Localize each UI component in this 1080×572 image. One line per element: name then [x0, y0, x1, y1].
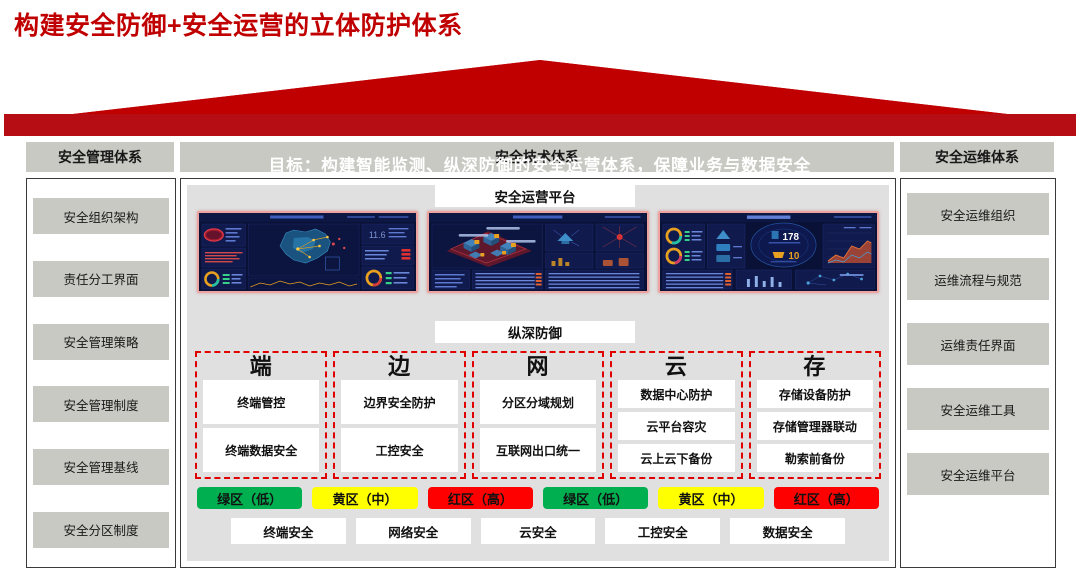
svg-text:178: 178 — [782, 232, 799, 243]
defense-column-title: 存 — [757, 355, 873, 378]
management-item[interactable]: 安全管理制度 — [33, 386, 169, 422]
status-badge[interactable]: 绿区（低） — [197, 487, 302, 509]
operations-item[interactable]: 运维流程与规范 — [907, 258, 1049, 300]
defense-column-title: 云 — [618, 355, 734, 378]
operations-system-panel: 安全运维组织 运维流程与规范 运维责任界面 安全运维工具 安全运维平台 — [900, 178, 1056, 568]
defense-item[interactable]: 工控安全 — [341, 428, 457, 472]
management-system-panel: 安全组织架构 责任分工界面 安全管理策略 安全管理制度 安全管理基线 安全分区制… — [26, 178, 176, 568]
management-item-list: 安全组织架构 责任分工界面 安全管理策略 安全管理制度 安全管理基线 安全分区制… — [33, 185, 169, 561]
defense-item-list: 数据中心防护 云平台容灾 云上云下备份 — [618, 380, 734, 472]
dashboard-metrics-graphic: 178 10 — [660, 213, 877, 291]
defense-item[interactable]: 勒索前备份 — [757, 444, 873, 472]
defense-item-list: 存储设备防护 存储管理器联动 勒索前备份 — [757, 380, 873, 472]
defense-item[interactable]: 存储管理器联动 — [757, 412, 873, 440]
management-item[interactable]: 安全分区制度 — [33, 512, 169, 548]
svg-text:10: 10 — [788, 251, 799, 262]
defense-item-list: 边界安全防护 工控安全 — [341, 380, 457, 472]
defense-item[interactable]: 云平台容灾 — [618, 412, 734, 440]
dashboard-map-graphic: 11.6 — [199, 213, 416, 291]
defense-item[interactable]: 终端数据安全 — [203, 428, 319, 472]
status-badge[interactable]: 黄区（中） — [312, 487, 417, 509]
operations-item-list: 安全运维组织 运维流程与规范 运维责任界面 安全运维工具 安全运维平台 — [907, 185, 1049, 561]
status-badge[interactable]: 红区（高） — [428, 487, 533, 509]
status-badge[interactable]: 绿区（低） — [543, 487, 648, 509]
status-badge[interactable]: 黄区（中） — [658, 487, 763, 509]
dashboard-topology-graphic — [429, 213, 646, 291]
defense-item[interactable]: 终端管控 — [203, 380, 319, 424]
dashboard-asset-metrics[interactable]: 178 10 — [658, 211, 879, 293]
svg-text:11.6: 11.6 — [369, 230, 386, 240]
status-badge[interactable]: 红区（高） — [774, 487, 879, 509]
management-item[interactable]: 安全管理基线 — [33, 449, 169, 485]
defense-item-list: 终端管控 终端数据安全 — [203, 380, 319, 472]
dashboard-network-topology[interactable] — [427, 211, 648, 293]
operations-item[interactable]: 安全运维组织 — [907, 193, 1049, 235]
section-label-platform: 安全运营平台 — [435, 185, 635, 207]
security-domain-item[interactable]: 云安全 — [481, 518, 596, 544]
technical-system-inner: 安全运营平台 — [187, 185, 889, 561]
defense-item[interactable]: 边界安全防护 — [341, 380, 457, 424]
defense-column-cloud[interactable]: 云 数据中心防护 云平台容灾 云上云下备份 — [610, 351, 742, 479]
dashboard-situational-map[interactable]: 11.6 — [197, 211, 418, 293]
management-item[interactable]: 安全组织架构 — [33, 198, 169, 234]
defense-item[interactable]: 分区分域规划 — [480, 380, 596, 424]
defense-column-title: 端 — [203, 355, 319, 378]
management-item[interactable]: 安全管理策略 — [33, 324, 169, 360]
defense-column-title: 边 — [341, 355, 457, 378]
defense-item[interactable]: 云上云下备份 — [618, 444, 734, 472]
dashboard-row: 11.6 — [197, 211, 879, 293]
operations-item[interactable]: 安全运维工具 — [907, 388, 1049, 430]
defense-column-border[interactable]: 边 边界安全防护 工控安全 — [333, 351, 465, 479]
management-item[interactable]: 责任分工界面 — [33, 261, 169, 297]
defense-item[interactable]: 互联网出口统一 — [480, 428, 596, 472]
goal-banner: 目标：构建智能监测、纵深防御的安全运营体系，保障业务与数据安全 — [0, 58, 1080, 136]
page-title: 构建安全防御+安全运营的立体防护体系 — [14, 6, 463, 42]
security-domain-item[interactable]: 网络安全 — [356, 518, 471, 544]
security-domain-item[interactable]: 工控安全 — [605, 518, 720, 544]
security-domain-item[interactable]: 终端安全 — [231, 518, 346, 544]
defense-item[interactable]: 数据中心防护 — [618, 380, 734, 408]
goal-banner-text: 目标：构建智能监测、纵深防御的安全运营体系，保障业务与数据安全 — [0, 158, 1080, 175]
defense-column-title: 网 — [480, 355, 596, 378]
security-domain-row: 终端安全 网络安全 云安全 工控安全 数据安全 — [197, 515, 879, 547]
defense-column-endpoint[interactable]: 端 终端管控 终端数据安全 — [195, 351, 327, 479]
defense-item[interactable]: 存储设备防护 — [757, 380, 873, 408]
roof-shape-icon — [0, 58, 1080, 136]
zone-badge-row: 绿区（低） 黄区（中） 红区（高） 绿区（低） 黄区（中） 红区（高） — [197, 487, 879, 509]
defense-column-storage[interactable]: 存 存储设备防护 存储管理器联动 勒索前备份 — [749, 351, 881, 479]
operations-item[interactable]: 运维责任界面 — [907, 323, 1049, 365]
technical-system-panel: 安全运营平台 — [180, 178, 896, 568]
operations-item[interactable]: 安全运维平台 — [907, 453, 1049, 495]
section-label-defense: 纵深防御 — [435, 321, 635, 343]
security-domain-item[interactable]: 数据安全 — [730, 518, 845, 544]
defense-columns: 端 终端管控 终端数据安全 边 边界安全防护 工控安全 网 分区分域规划 互联网… — [195, 351, 881, 479]
defense-item-list: 分区分域规划 互联网出口统一 — [480, 380, 596, 472]
defense-column-network[interactable]: 网 分区分域规划 互联网出口统一 — [472, 351, 604, 479]
